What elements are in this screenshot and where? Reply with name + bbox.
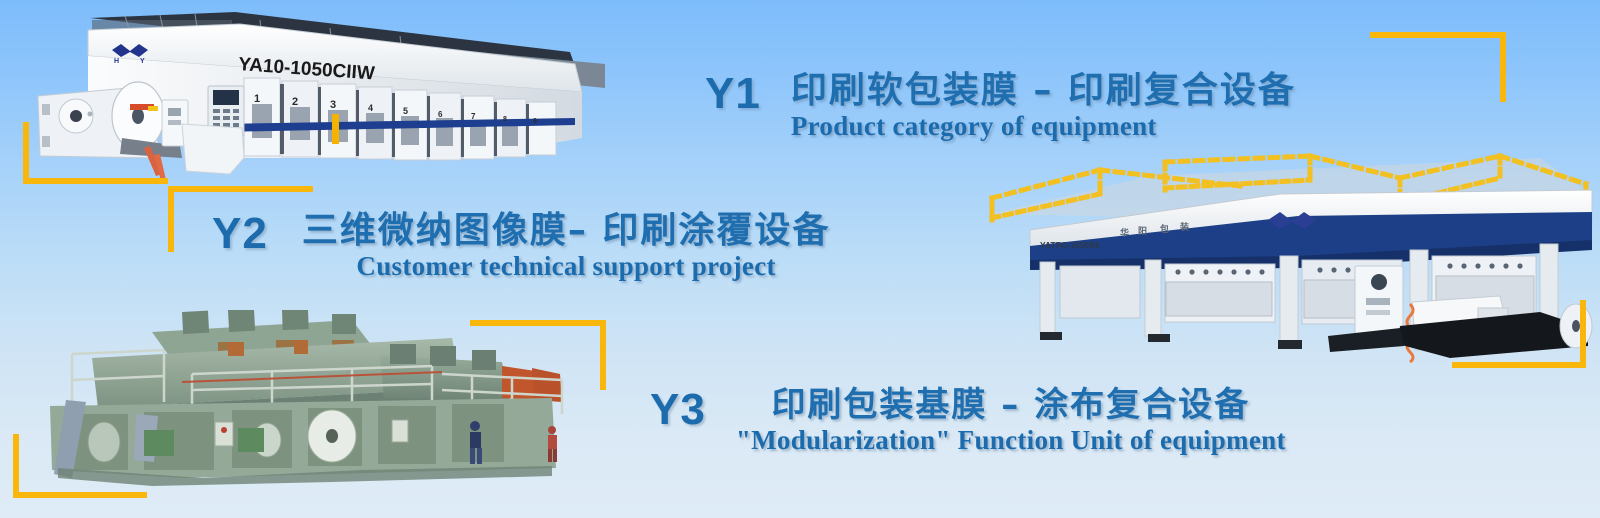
svg-text:Y: Y xyxy=(140,58,145,65)
svg-text:6: 6 xyxy=(438,110,443,119)
svg-text:7: 7 xyxy=(471,112,476,121)
section-y1-code: Y1 xyxy=(705,72,761,116)
svg-text:9: 9 xyxy=(533,118,537,125)
accent-rule-top-left-horizontal xyxy=(23,178,168,184)
svg-text:华: 华 xyxy=(1120,227,1129,239)
section-y3-text: 印刷包装基膜 – 涂布复合设备 "Modularization" Functio… xyxy=(736,388,1286,454)
section-y2-code: Y2 xyxy=(212,212,268,256)
machine-image-base-film-coating-line xyxy=(32,310,577,495)
svg-text:4: 4 xyxy=(368,103,373,113)
section-y1-text: 印刷软包装膜 – 印刷复合设备 Product category of equi… xyxy=(791,72,1296,140)
accent-rule-top-left-vertical xyxy=(23,122,29,184)
accent-rule-top-right-horizontal xyxy=(1370,32,1506,38)
section-y3: Y3 印刷包装基膜 – 涂布复合设备 "Modularization" Func… xyxy=(650,388,1286,454)
section-y1-title-cn: 印刷软包装膜 – 印刷复合设备 xyxy=(791,72,1296,110)
machine-image-coating-laminating-machine: 华阳 包装 YATFG-1650BⅡ xyxy=(980,150,1600,365)
section-y2-text: 三维微纳图像膜– 印刷涂覆设备 Customer technical suppo… xyxy=(302,212,831,280)
accent-rule-mid-right-vertical xyxy=(600,320,606,390)
svg-text:2: 2 xyxy=(292,96,298,108)
svg-text:5: 5 xyxy=(403,106,408,116)
accent-rule-mid-left-horizontal xyxy=(168,186,313,192)
svg-text:装: 装 xyxy=(1179,221,1190,233)
section-y2: Y2 三维微纳图像膜– 印刷涂覆设备 Customer technical su… xyxy=(212,212,830,280)
section-y1: Y1 印刷软包装膜 – 印刷复合设备 Product category of e… xyxy=(705,72,1296,140)
section-y3-title-en: "Modularization" Function Unit of equipm… xyxy=(736,426,1286,454)
svg-text:包: 包 xyxy=(1159,223,1169,235)
svg-text:8: 8 xyxy=(503,116,507,123)
machine-image-rotogravure-printing-press: H Y YA10-1050CIIW 1 2 3 4 5 6 7 8 9 xyxy=(30,8,605,183)
accent-rule-bottom-right-vertical xyxy=(1580,300,1586,368)
accent-rule-top-right-vertical xyxy=(1500,32,1506,102)
section-y1-title-en: Product category of equipment xyxy=(791,112,1296,140)
section-y2-title-en: Customer technical support project xyxy=(356,252,775,280)
accent-rule-bottom-right-horizontal xyxy=(1452,362,1586,368)
accent-rule-mid-right-horizontal xyxy=(470,320,606,326)
svg-text:阳: 阳 xyxy=(1138,226,1147,237)
svg-text:1: 1 xyxy=(254,93,260,105)
section-y3-title-cn: 印刷包装基膜 – 涂布复合设备 xyxy=(771,388,1250,424)
accent-rule-mid-left-vertical xyxy=(168,186,174,252)
accent-rule-bottom-left-horizontal xyxy=(13,492,147,498)
accent-rule-bottom-left-vertical xyxy=(13,434,19,498)
section-y2-title-cn: 三维微纳图像膜– 印刷涂覆设备 xyxy=(302,212,831,250)
equipment-banner: H Y YA10-1050CIIW 1 2 3 4 5 6 7 8 9 xyxy=(0,0,1600,518)
section-y3-code: Y3 xyxy=(650,388,706,432)
svg-text:YATFG-1650BⅡ: YATFG-1650BⅡ xyxy=(1040,240,1099,250)
svg-text:H: H xyxy=(114,58,119,65)
svg-text:3: 3 xyxy=(330,99,336,111)
